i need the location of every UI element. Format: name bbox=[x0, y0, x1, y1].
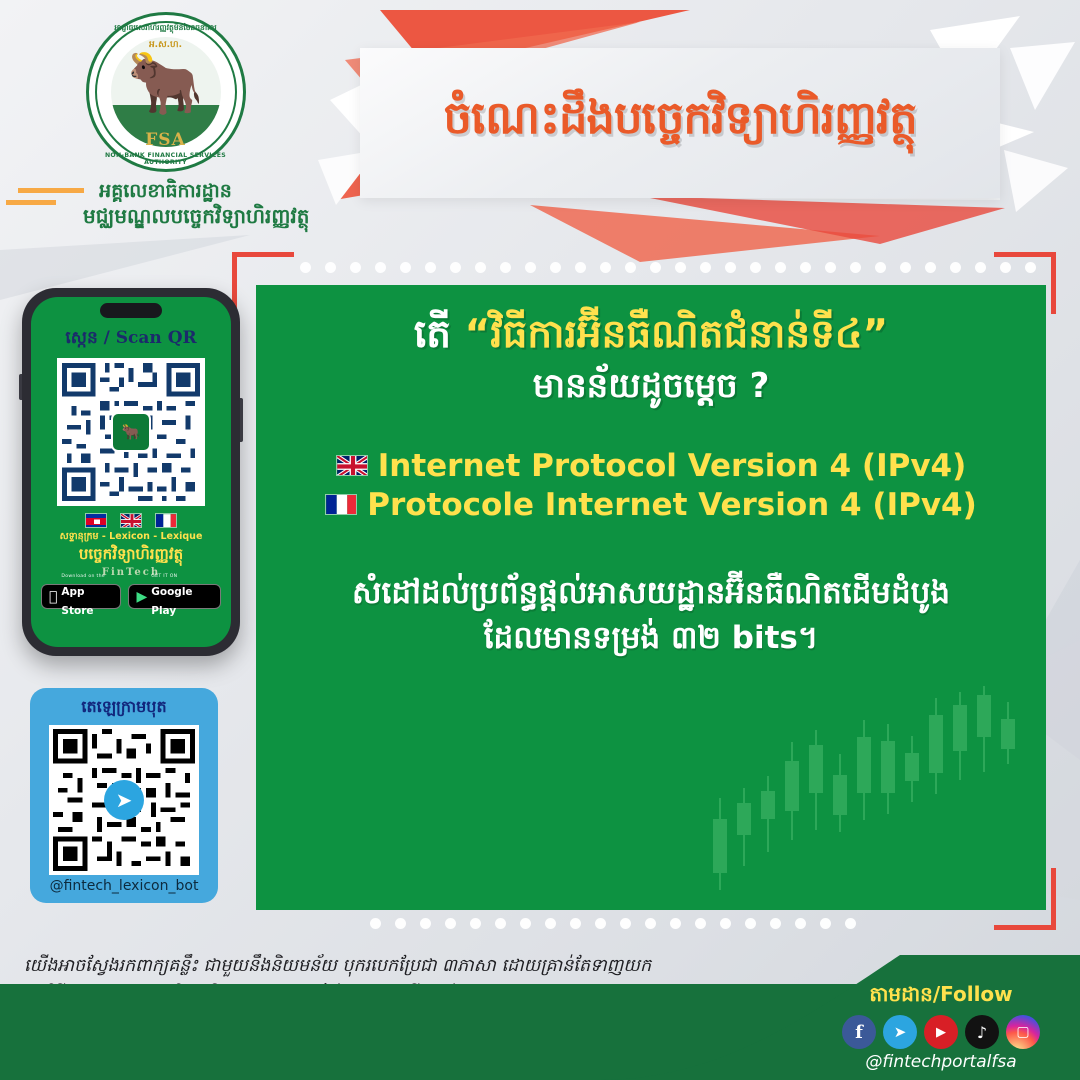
seal-english-text: NON-BANK FINANCIAL SERVICES AUTHORITY bbox=[89, 152, 243, 166]
google-play-small: GET IT ON bbox=[151, 575, 213, 580]
scan-qr-label: ស្កេន / Scan QR bbox=[41, 327, 221, 352]
org-name-line2: មជ្ឈមណ្ឌលបច្ចេកវិទ្យាហិរញ្ញវត្ថុ bbox=[83, 204, 248, 229]
phone-notch bbox=[100, 303, 162, 318]
telegram-icon[interactable]: ➤ bbox=[883, 1015, 917, 1049]
definition-line-1: សំដៅដល់ប្រព័ន្ធផ្តល់អាសយដ្ឋានអ៊ីនធឺណិតដើ… bbox=[282, 571, 1020, 616]
term-text-fr: Protocole Internet Version 4 (IPv4) bbox=[367, 487, 977, 523]
question-lead: តើ bbox=[414, 312, 451, 357]
dots-decor-top bbox=[300, 262, 1060, 273]
social-row: f ➤ ▶ ♪ ▢ bbox=[816, 1015, 1066, 1049]
definition-line-2: ដែលមានទម្រង់ ៣២ bits។ bbox=[282, 616, 1020, 661]
seal-initials: FSA bbox=[89, 130, 243, 150]
bull-icon: 🐂 bbox=[127, 52, 204, 114]
seal-khmer-text: អាជ្ញាធរសេវាហិរញ្ញវត្ថុមិនមែនធនាគារ bbox=[89, 23, 243, 34]
app-store-badge[interactable]:  Download on the App Store bbox=[41, 584, 121, 609]
app-store-small: Download on the bbox=[61, 575, 113, 580]
uk-flag bbox=[120, 513, 142, 528]
telegram-card[interactable]: តេឡេក្រាមបុត bbox=[30, 688, 218, 903]
instagram-icon[interactable]: ▢ bbox=[1006, 1015, 1040, 1049]
phone-flags-row bbox=[41, 513, 221, 528]
google-play-big: Google Play bbox=[151, 586, 192, 617]
telegram-center-icon: ➤ bbox=[104, 780, 144, 820]
google-play-badge[interactable]: ▶ GET IT ON Google Play bbox=[128, 584, 221, 609]
store-badges:  Download on the App Store ▶ GET IT ON … bbox=[41, 584, 221, 609]
question-term: “វិធីការអ៊ីនធឺណិតជំនាន់ទី៤” bbox=[465, 312, 889, 357]
qr-code-app[interactable]: 🐂 bbox=[57, 358, 205, 506]
youtube-icon[interactable]: ▶ bbox=[924, 1015, 958, 1049]
tiktok-icon[interactable]: ♪ bbox=[965, 1015, 999, 1049]
telegram-handle: @fintech_lexicon_bot bbox=[38, 878, 210, 894]
follow-title: តាមដាន/Follow bbox=[816, 981, 1066, 1011]
phone-screen: ស្កេន / Scan QR bbox=[31, 297, 231, 647]
term-row-fr: Protocole Internet Version 4 (IPv4) bbox=[282, 487, 1020, 523]
fsa-seal-logo: អាជ្ញាធរសេវាហិរញ្ញវត្ថុមិនមែនធនាគារ អ.ស.… bbox=[86, 12, 246, 172]
header: អាជ្ញាធរសេវាហិរញ្ញវត្ថុមិនមែនធនាគារ អ.ស.… bbox=[0, 0, 1080, 260]
question-line-1: តើ “វិធីការអ៊ីនធឺណិតជំនាន់ទី៤” bbox=[282, 311, 1020, 360]
candlestick-decor bbox=[702, 680, 1032, 910]
app-store-big: App Store bbox=[61, 586, 93, 617]
follow-block: តាមដាន/Follow f ➤ ▶ ♪ ▢ @fintechportalfs… bbox=[816, 981, 1066, 1072]
fintech-khmer-label: បច្ចេកវិទ្យាហិរញ្ញវត្ថុ bbox=[41, 545, 221, 567]
term-text-en: Internet Protocol Version 4 (IPv4) bbox=[378, 448, 967, 484]
fr-flag bbox=[155, 513, 177, 528]
qr-code-telegram[interactable]: ➤ bbox=[49, 725, 199, 875]
org-name-line1: អគ្គលេខាធិការដ្ឋាន bbox=[83, 180, 248, 204]
org-name: អគ្គលេខាធិការដ្ឋាន មជ្ឈមណ្ឌលបច្ចេកវិទ្យា… bbox=[83, 180, 248, 229]
telegram-title: តេឡេក្រាមបុត bbox=[38, 696, 210, 720]
main-content-panel: តើ “វិធីការអ៊ីនធឺណិតជំនាន់ទី៤” មានន័យដូច… bbox=[256, 285, 1046, 910]
logo-block: អាជ្ញាធរសេវាហិរញ្ញវត្ថុមិនមែនធនាគារ អ.ស.… bbox=[83, 12, 248, 229]
follow-handle: @fintechportalfsa bbox=[816, 1052, 1066, 1072]
terms-block: Internet Protocol Version 4 (IPv4) Proto… bbox=[282, 448, 1020, 523]
term-row-en: Internet Protocol Version 4 (IPv4) bbox=[282, 448, 1020, 484]
uk-flag bbox=[336, 455, 368, 476]
question-line-2: មានន័យដូចម្តេច ? bbox=[282, 364, 1020, 414]
fr-flag bbox=[325, 494, 357, 515]
qr-center-logo: 🐂 bbox=[111, 412, 151, 452]
banner-title: ចំណេះដឹងបច្ចេកវិទ្យាហិរញ្ញវត្ថុ bbox=[360, 62, 1000, 182]
definition-block: សំដៅដល់ប្រព័ន្ធផ្តល់អាសយដ្ឋានអ៊ីនធឺណិតដើ… bbox=[282, 571, 1020, 661]
phone-mockup: ស្កេន / Scan QR bbox=[22, 288, 240, 656]
play-triangle-icon: ▶ bbox=[136, 590, 147, 604]
lexicon-line: សទ្ទានុក្រម - Lexicon - Lexique bbox=[41, 530, 221, 544]
kh-flag bbox=[85, 513, 107, 528]
dots-decor-bottom bbox=[370, 918, 910, 929]
facebook-icon[interactable]: f bbox=[842, 1015, 876, 1049]
apple-icon:  bbox=[49, 590, 57, 604]
